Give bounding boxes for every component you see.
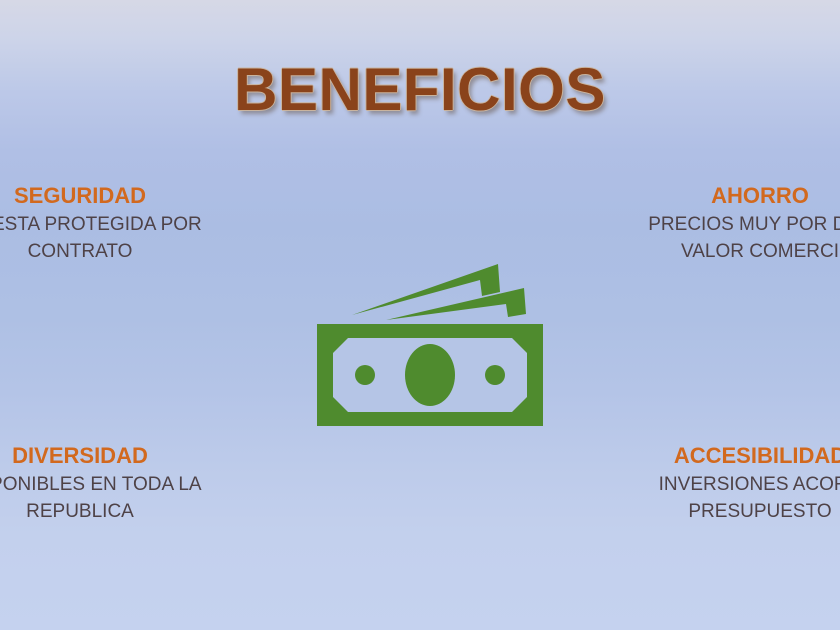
- money-banknotes-icon: [310, 252, 550, 432]
- benefit-body-diversidad-line1: DISPONIBLES EN TODA LA: [0, 471, 245, 498]
- title-area: BENEFICIOS: [0, 58, 840, 122]
- benefit-body-accesibilidad-line1: INVERSIONES ACORD: [595, 471, 840, 498]
- page-title: BENEFICIOS: [234, 58, 606, 122]
- benefit-block-ahorro: AHORRO PRECIOS MUY POR DEB VALOR COMERCI: [595, 183, 840, 265]
- benefit-heading-seguridad: SEGURIDAD: [0, 183, 245, 209]
- money-bill-right-dot: [485, 365, 505, 385]
- slide-canvas: BENEFICIOS SEGURIDAD ON ESTA PROTEGIDA P…: [0, 0, 840, 630]
- money-bill-center-oval: [405, 344, 455, 406]
- benefit-body-accesibilidad-line2: PRESUPUESTO: [595, 498, 840, 525]
- money-bill-left-dot: [355, 365, 375, 385]
- benefit-heading-diversidad: DIVERSIDAD: [0, 443, 245, 469]
- money-bill-rear-lower: [386, 288, 526, 320]
- benefit-block-accesibilidad: ACCESIBILIDAD INVERSIONES ACORD PRESUPUE…: [595, 443, 840, 525]
- benefit-body-seguridad-line1: ON ESTA PROTEGIDA POR: [0, 211, 245, 238]
- benefit-body-ahorro-line2: VALOR COMERCI: [595, 238, 840, 265]
- benefit-block-seguridad: SEGURIDAD ON ESTA PROTEGIDA POR CONTRATO: [0, 183, 245, 265]
- benefit-body-diversidad-line2: REPUBLICA: [0, 498, 245, 525]
- benefit-body-ahorro-line1: PRECIOS MUY POR DEB: [595, 211, 840, 238]
- benefit-block-diversidad: DIVERSIDAD DISPONIBLES EN TODA LA REPUBL…: [0, 443, 245, 525]
- benefit-heading-ahorro: AHORRO: [595, 183, 840, 209]
- benefit-heading-accesibilidad: ACCESIBILIDAD: [595, 443, 840, 469]
- benefit-body-seguridad-line2: CONTRATO: [0, 238, 245, 265]
